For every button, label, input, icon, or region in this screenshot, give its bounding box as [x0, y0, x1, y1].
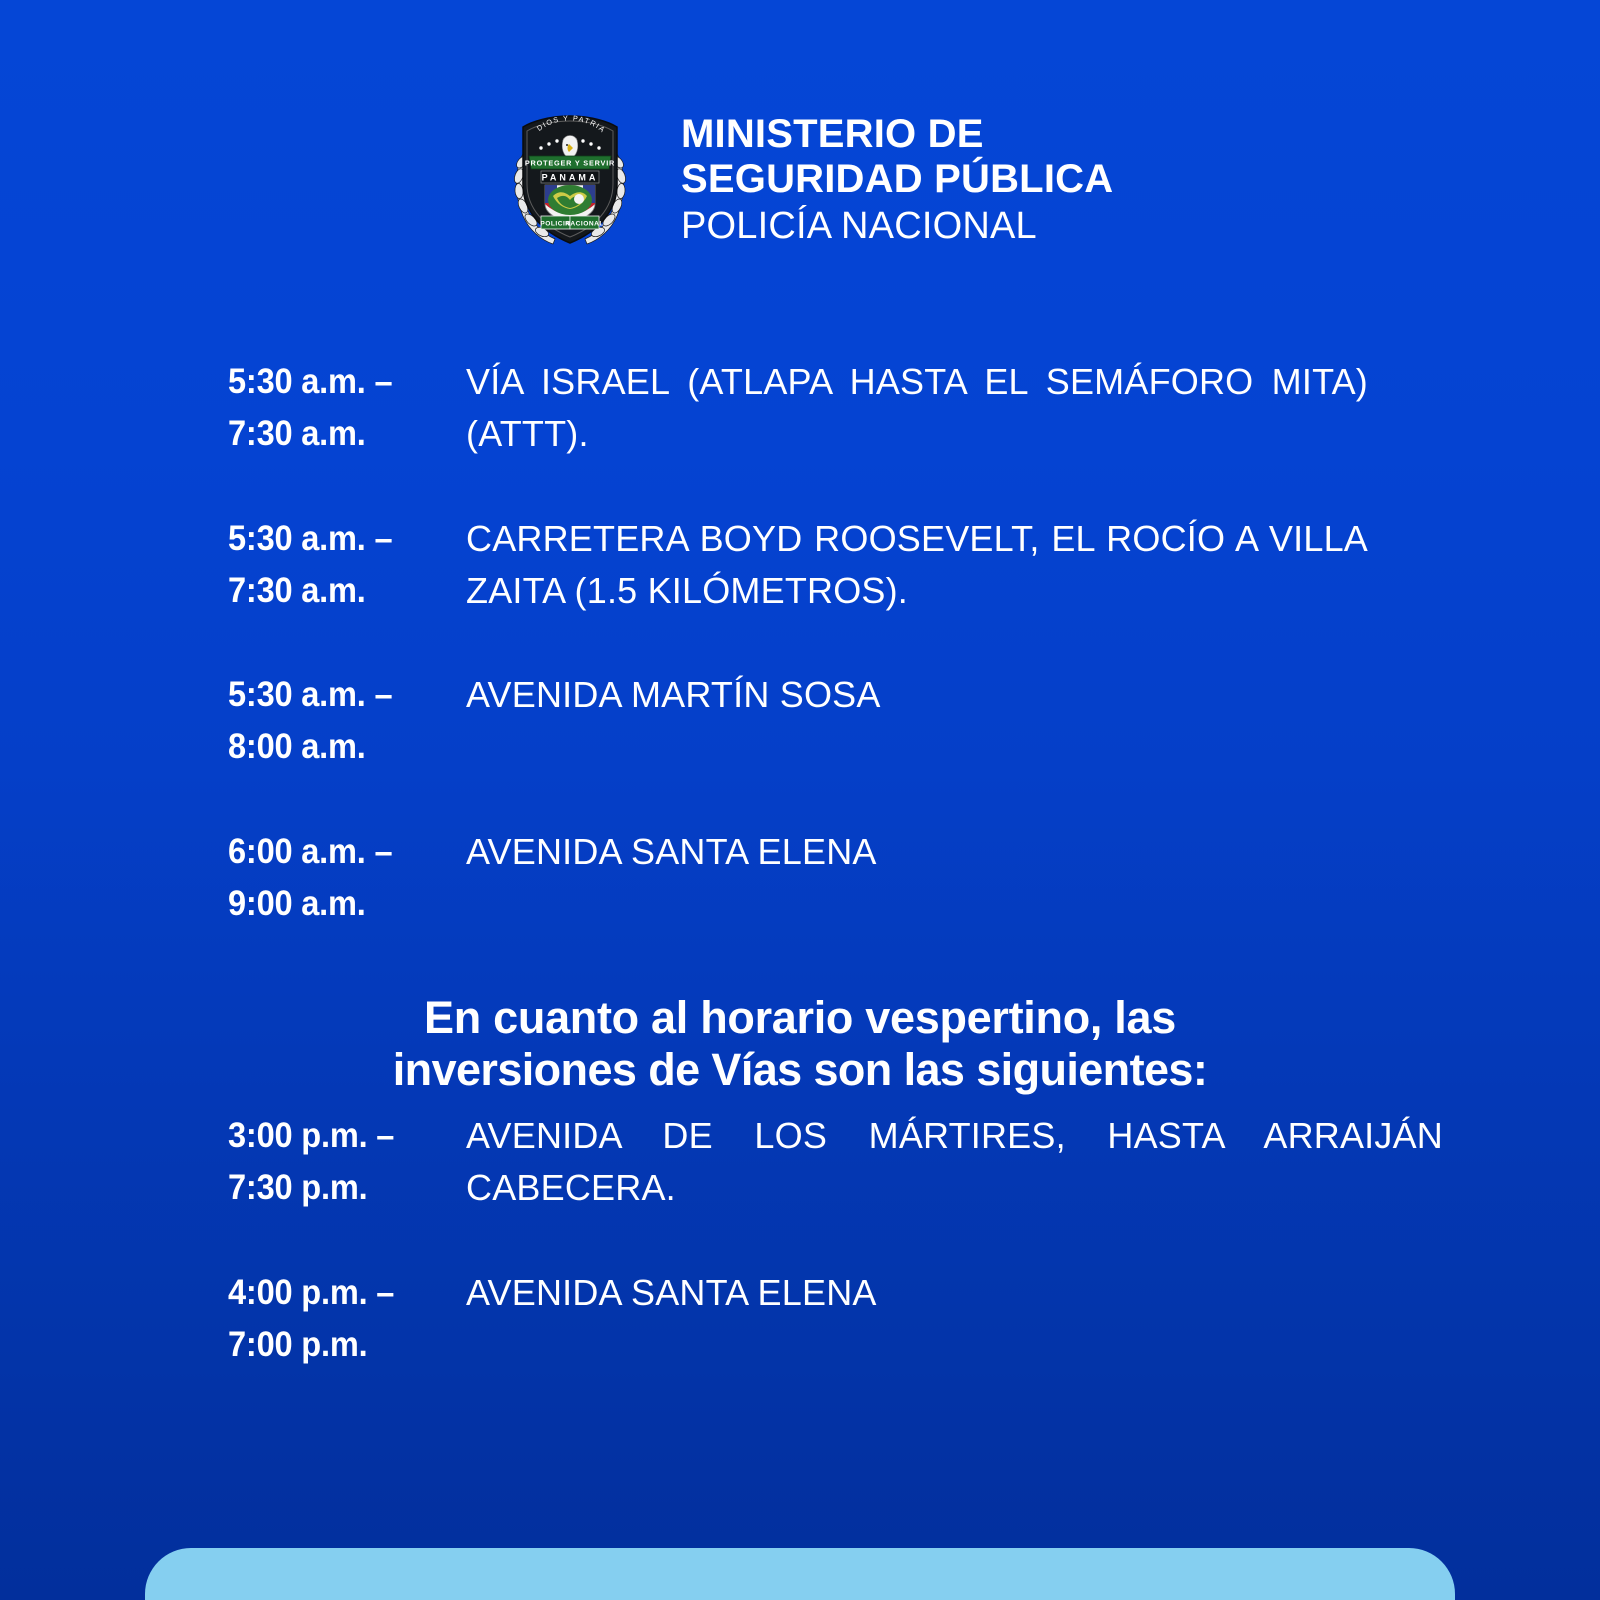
- time-range: 5:30 a.m. – 7:30 a.m.: [228, 513, 449, 617]
- time-end: 7:30 a.m.: [228, 565, 449, 617]
- svg-text:PROTEGER Y SERVIR: PROTEGER Y SERVIR: [525, 159, 615, 168]
- location-description: AVENIDA MARTÍN SOSA: [466, 669, 1368, 721]
- location-description: AVENIDA DE LOS MÁRTIRES, HASTA ARRAIJÁN …: [466, 1110, 1443, 1214]
- time-end: 7:30 a.m.: [228, 408, 449, 460]
- heading-line-1: En cuanto al horario vespertino, las: [200, 992, 1400, 1044]
- time-start: 5:30 a.m. –: [228, 356, 449, 408]
- header-title-group: MINISTERIO DE SEGURIDAD PÚBLICA POLICÍA …: [681, 100, 1113, 248]
- time-end: 8:00 a.m.: [228, 721, 449, 773]
- time-start: 4:00 p.m. –: [228, 1267, 449, 1319]
- schedule-entry-morning-3: 5:30 a.m. – 8:00 a.m. AVENIDA MARTÍN SOS…: [228, 669, 1368, 773]
- schedule-entry-evening-1: 3:00 p.m. – 7:30 p.m. AVENIDA DE LOS MÁR…: [228, 1110, 1443, 1214]
- location-description: VÍA ISRAEL (ATLAPA HASTA EL SEMÁFORO MIT…: [466, 356, 1368, 460]
- location-description: AVENIDA SANTA ELENA: [466, 1267, 1443, 1319]
- time-range: 6:00 a.m. – 9:00 a.m.: [228, 826, 449, 930]
- location-description: AVENIDA SANTA ELENA: [466, 826, 1368, 878]
- heading-line-2: inversiones de Vías son las siguientes:: [200, 1044, 1400, 1096]
- time-end: 9:00 a.m.: [228, 878, 449, 930]
- schedule-entry-morning-1: 5:30 a.m. – 7:30 a.m. VÍA ISRAEL (ATLAPA…: [228, 356, 1368, 460]
- schedule-entry-morning-4: 6:00 a.m. – 9:00 a.m. AVENIDA SANTA ELEN…: [228, 826, 1368, 930]
- ministry-title-line-2: SEGURIDAD PÚBLICA: [681, 157, 1113, 202]
- ministry-title-line-1: MINISTERIO DE: [681, 112, 1113, 157]
- ministry-subtitle: POLICÍA NACIONAL: [681, 204, 1113, 249]
- schedule-entry-morning-2: 5:30 a.m. – 7:30 a.m. CARRETERA BOYD ROO…: [228, 513, 1368, 617]
- panama-national-police-shield-icon: DIOS Y PATRIA PROTEGER Y SERVIR PANAMA: [505, 100, 635, 250]
- time-range: 5:30 a.m. – 7:30 a.m.: [228, 356, 449, 460]
- time-start: 5:30 a.m. –: [228, 669, 449, 721]
- time-start: 6:00 a.m. –: [228, 826, 449, 878]
- time-end: 7:00 p.m.: [228, 1319, 449, 1371]
- svg-text:NACIONAL: NACIONAL: [565, 221, 604, 228]
- time-start: 5:30 a.m. –: [228, 513, 449, 565]
- time-end: 7:30 p.m.: [228, 1162, 449, 1214]
- schedule-entry-evening-2: 4:00 p.m. – 7:00 p.m. AVENIDA SANTA ELEN…: [228, 1267, 1443, 1371]
- time-range: 4:00 p.m. – 7:00 p.m.: [228, 1267, 449, 1371]
- evening-section-heading: En cuanto al horario vespertino, las inv…: [200, 992, 1400, 1096]
- time-range: 5:30 a.m. – 8:00 a.m.: [228, 669, 449, 773]
- svg-text:PANAMA: PANAMA: [542, 173, 599, 183]
- header: DIOS Y PATRIA PROTEGER Y SERVIR PANAMA: [505, 100, 1113, 250]
- bottom-accent-ribbon: [145, 1548, 1455, 1600]
- poster-canvas: DIOS Y PATRIA PROTEGER Y SERVIR PANAMA: [0, 0, 1600, 1600]
- time-range: 3:00 p.m. – 7:30 p.m.: [228, 1110, 449, 1214]
- location-description: CARRETERA BOYD ROOSEVELT, EL ROCÍO A VIL…: [466, 513, 1368, 617]
- time-start: 3:00 p.m. –: [228, 1110, 449, 1162]
